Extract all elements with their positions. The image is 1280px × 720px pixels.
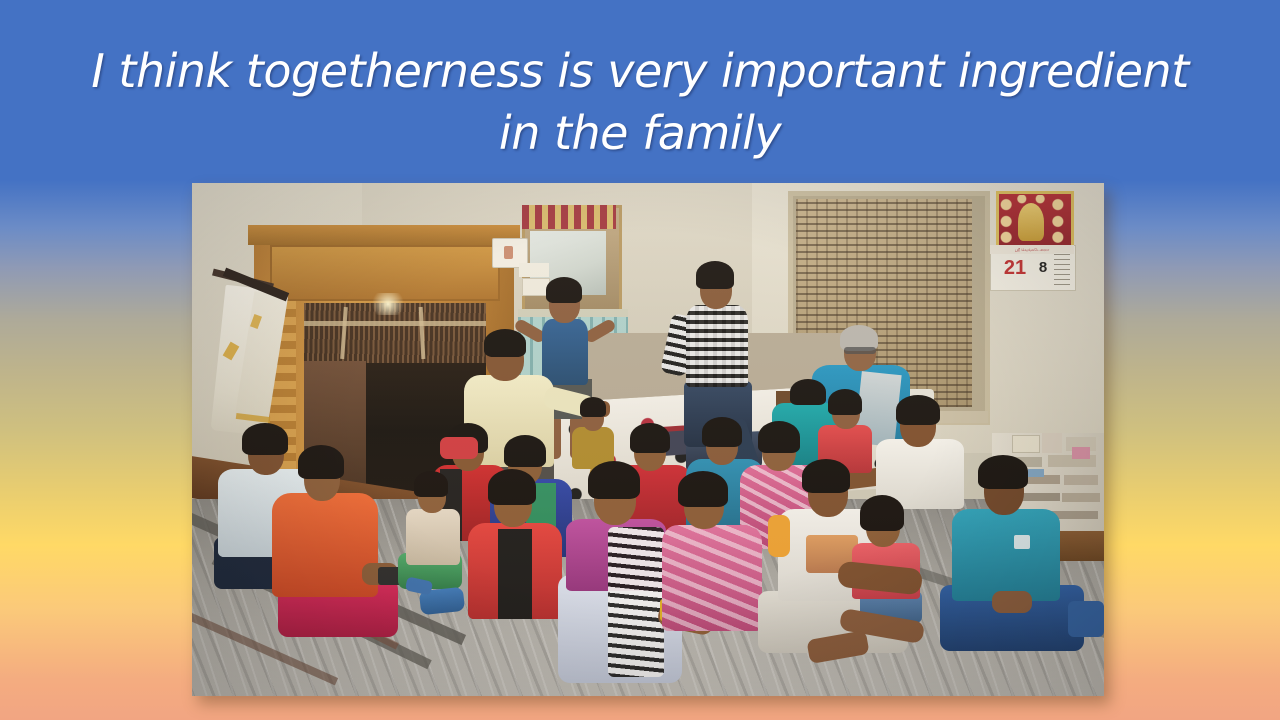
person-man-white-tshirt xyxy=(768,515,790,557)
person-girl-orange-dupatta xyxy=(272,493,378,597)
person-girl-cream-dress xyxy=(406,509,460,565)
person-woman-red-front xyxy=(498,529,532,619)
eyeglasses xyxy=(844,347,876,354)
person-boy-standing-left xyxy=(542,319,588,385)
clutter-item xyxy=(1064,475,1098,485)
mirror-top-trim xyxy=(522,205,616,229)
person-man-teal-polo xyxy=(952,509,1060,601)
person-woman-pink-saree xyxy=(678,471,728,507)
person-woman-purple-top xyxy=(588,461,640,499)
person-girl-red-top xyxy=(860,495,904,531)
person-man-white-tshirt xyxy=(802,459,850,493)
red-cloth-floor xyxy=(440,437,478,459)
person-boy-standing-left xyxy=(546,277,582,303)
person-boy-standing-right xyxy=(696,261,734,289)
door-header xyxy=(248,225,520,245)
wall-switch-plate xyxy=(519,263,549,277)
person-child-red-tshirt xyxy=(828,389,862,415)
person-boy-standing-right xyxy=(686,305,748,387)
page-title: I think togetherness is very important i… xyxy=(50,40,1230,164)
calendar-side-column xyxy=(1054,253,1070,285)
person-toddler-mustard xyxy=(580,397,606,417)
person-woman-red-front xyxy=(488,469,536,505)
clutter-item xyxy=(1012,435,1040,453)
person-woman-blue-saree xyxy=(504,435,546,467)
blue-bag xyxy=(1068,601,1104,637)
person-woman-pink-saree xyxy=(662,525,762,631)
slide: I think togetherness is very important i… xyxy=(0,0,1280,720)
calendar-day-number: 8 xyxy=(1034,255,1052,281)
family-photo[interactable]: ஸ்ரீ வெங்கடேஸறா 21 8 xyxy=(192,183,1104,696)
person-woman-pink-patterned xyxy=(758,421,800,453)
person-man-teal-polo xyxy=(992,591,1032,613)
person-man-white-shirt xyxy=(896,395,940,425)
clutter-item xyxy=(1062,493,1100,502)
person-woman-red-two xyxy=(630,423,670,453)
person-woman-blue-top xyxy=(702,417,742,447)
photo-canvas: ஸ்ரீ வெங்கடேஸறா 21 8 xyxy=(192,183,1104,696)
doorway-light xyxy=(368,293,408,315)
clutter-item xyxy=(1042,433,1062,453)
clutter-item xyxy=(1028,469,1044,477)
clutter-item xyxy=(1072,447,1090,459)
calendar-deity-figure xyxy=(1018,203,1044,241)
wall-switch-indicator xyxy=(504,246,513,259)
person-woman-purple-top xyxy=(608,527,664,677)
person-man-cream-shirt xyxy=(484,329,526,357)
polo-logo xyxy=(1014,535,1030,549)
ceiling-beam xyxy=(304,321,486,326)
person-man-light-shirt xyxy=(242,423,288,455)
person-girl-cream-dress xyxy=(414,471,448,497)
person-man-teal-polo xyxy=(978,455,1028,489)
person-girl-orange-dupatta xyxy=(298,445,344,479)
calendar-date: 21 xyxy=(998,255,1032,281)
person-woman-teal xyxy=(790,379,826,405)
